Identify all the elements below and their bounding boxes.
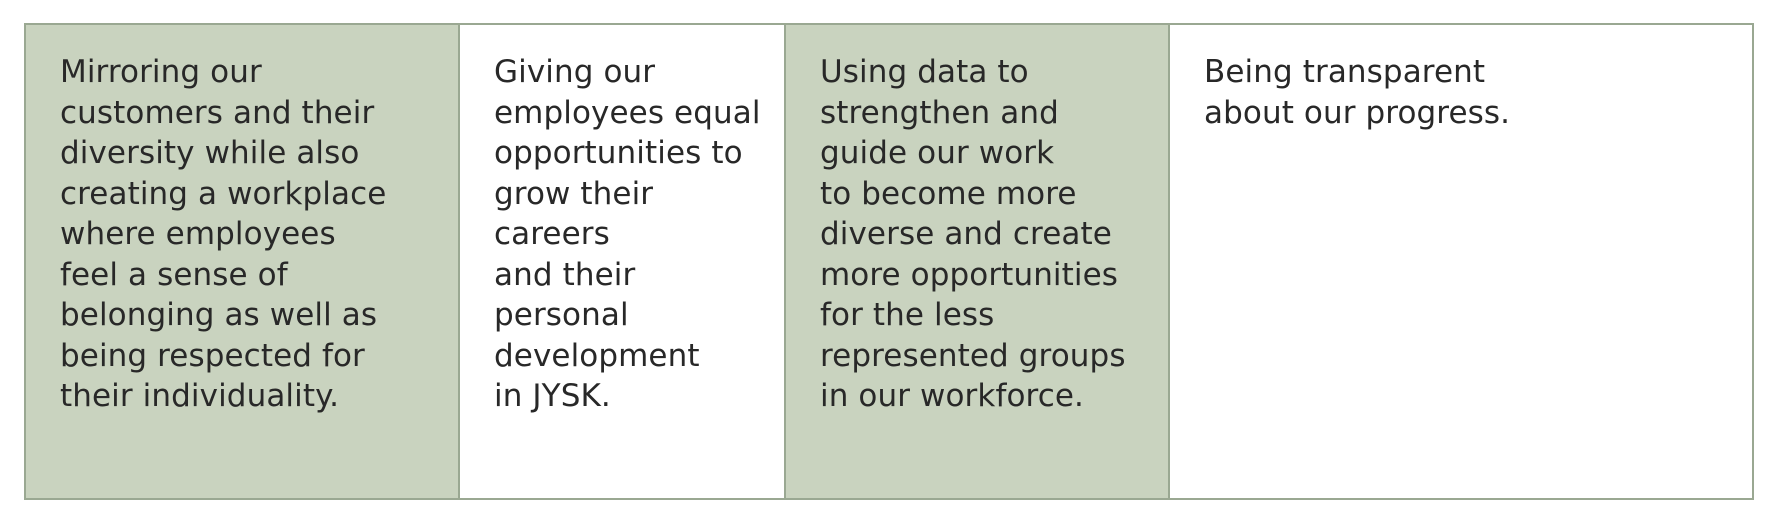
table-row: Mirroring our customers and their divers… <box>25 24 1753 499</box>
table-cell-using-data: Using data to strengthen and guide our w… <box>785 24 1169 499</box>
page-root: Mirroring our customers and their divers… <box>0 0 1778 524</box>
table-cell-mirroring-customers: Mirroring our customers and their divers… <box>25 24 459 499</box>
cell-text-mirroring-customers: Mirroring our customers and their divers… <box>60 52 442 417</box>
diversity-commitments-table: Mirroring our customers and their divers… <box>24 23 1754 500</box>
cell-text-transparency: Being transparent about our progress. <box>1204 52 1736 133</box>
cell-text-using-data: Using data to strengthen and guide our w… <box>820 52 1152 417</box>
table-cell-transparency: Being transparent about our progress. <box>1169 24 1753 499</box>
table-cell-equal-opportunities: Giving our employees equal opportunities… <box>459 24 785 499</box>
cell-text-equal-opportunities: Giving our employees equal opportunities… <box>494 52 768 417</box>
